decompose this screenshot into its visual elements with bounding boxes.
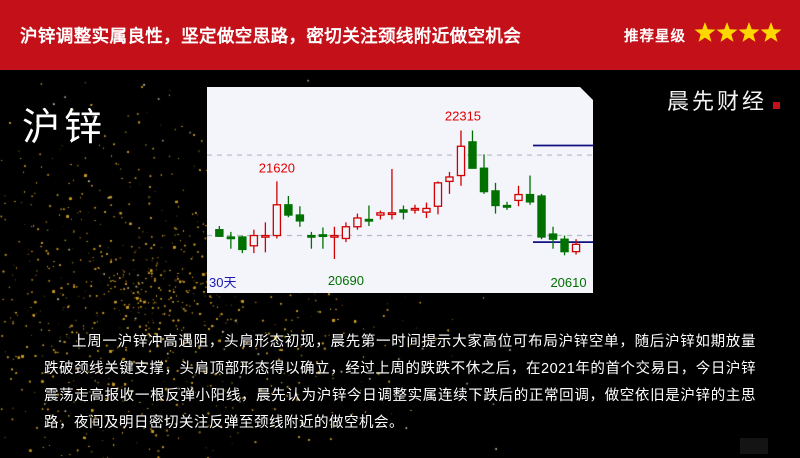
candlestick <box>365 206 372 226</box>
brand-dot-icon <box>773 102 780 109</box>
candlestick <box>480 154 487 194</box>
slide-root: 沪锌调整实属良性，坚定做空思路，密切关注颈线附近做空机会 推荐星级 沪锌 晨先财… <box>0 0 800 458</box>
chart-annotation: 30天 <box>209 275 236 290</box>
candlestick <box>526 176 533 205</box>
commodity-title: 沪锌 <box>22 96 106 151</box>
chart-annotation: 20690 <box>328 273 364 288</box>
candlestick <box>377 211 384 220</box>
candlestick <box>319 227 326 248</box>
candlestick-chart[interactable]: 2231521620206902061030天 <box>207 87 593 293</box>
candlestick <box>492 183 499 214</box>
candlestick <box>285 196 292 217</box>
candlestick <box>469 131 476 169</box>
candlestick <box>342 222 349 242</box>
candlestick <box>262 222 269 252</box>
chart-svg: 2231521620206902061030天 <box>207 87 593 293</box>
rating-group: 推荐星级 <box>624 0 782 70</box>
candlestick <box>411 205 418 214</box>
chart-annotation: 21620 <box>259 160 295 175</box>
chart-annotation: 22315 <box>445 109 481 124</box>
candlestick <box>296 206 303 226</box>
candlestick <box>538 194 545 239</box>
star-icon <box>716 22 738 44</box>
article-paragraph: 上周一沪锌冲高遇阻，头肩形态初现，晨先第一时间提示大家高位可布局沪锌空单，随后沪… <box>44 329 756 437</box>
candlestick <box>549 227 556 249</box>
star-rating <box>694 22 782 49</box>
header-title: 沪锌调整实属良性，坚定做空思路，密切关注颈线附近做空机会 <box>20 0 521 70</box>
candlestick <box>308 232 315 249</box>
candlestick <box>227 232 234 249</box>
corner-marker <box>740 438 768 454</box>
brand-name: 晨先财经 <box>667 84 767 116</box>
star-icon <box>738 22 760 44</box>
candlestick <box>434 181 441 214</box>
rating-label: 推荐星级 <box>624 25 686 46</box>
header-banner: 沪锌调整实属良性，坚定做空思路，密切关注颈线附近做空机会 推荐星级 <box>0 0 800 70</box>
candlestick <box>561 236 568 256</box>
brand-logo: 晨先财经 <box>667 84 780 116</box>
candlestick <box>423 203 430 218</box>
candlestick <box>503 202 510 210</box>
candlestick <box>273 181 280 238</box>
candlestick <box>457 131 464 186</box>
candlestick <box>331 227 338 259</box>
candlestick <box>216 226 223 237</box>
candlestick <box>354 214 361 230</box>
star-icon <box>694 22 716 44</box>
candlestick <box>400 206 407 220</box>
candlestick <box>388 169 395 219</box>
candlestick <box>239 236 246 254</box>
candlestick <box>250 230 257 253</box>
chart-annotation: 20610 <box>550 275 586 290</box>
candlestick <box>515 186 522 206</box>
star-icon <box>760 22 782 44</box>
candlestick <box>446 172 453 194</box>
